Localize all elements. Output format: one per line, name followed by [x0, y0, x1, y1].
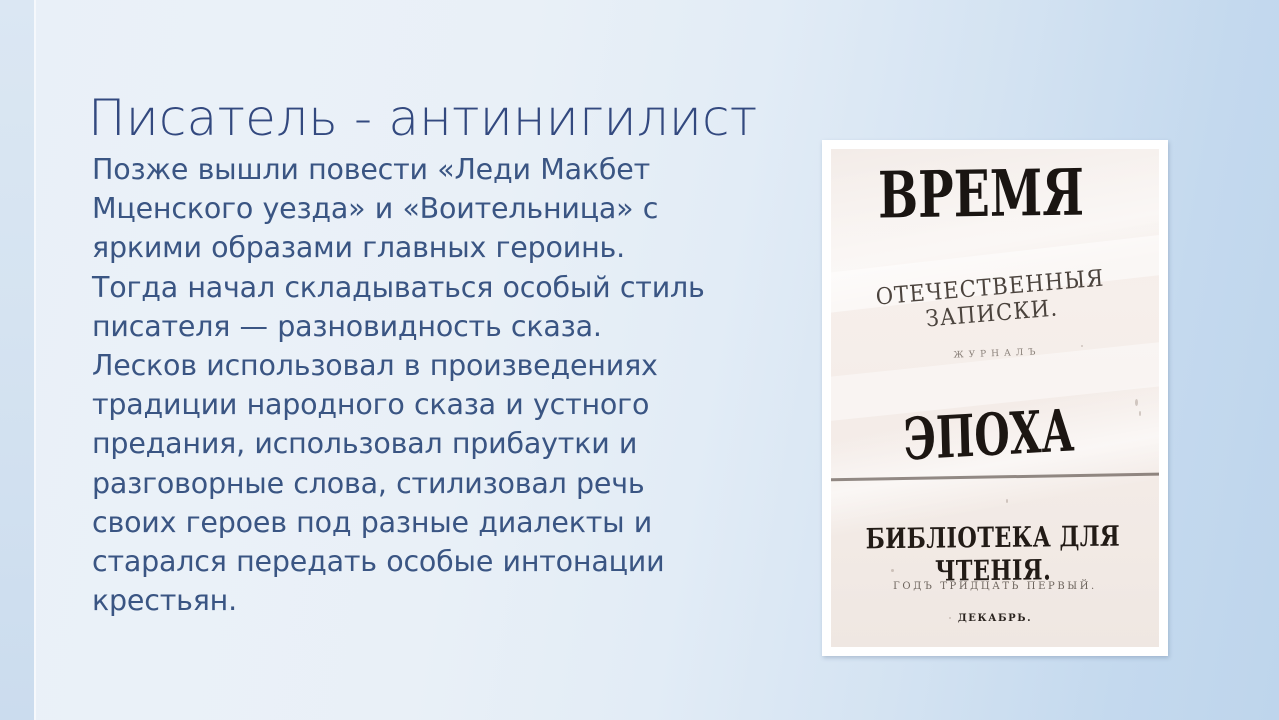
- slide-left-accent-edge: [34, 0, 36, 720]
- paper-speck: [1139, 411, 1141, 416]
- journal-title-epoha: ЭПОХА: [873, 395, 1104, 476]
- journal-covers-image-content: ВРЕМЯ ОТЕЧЕСТВЕННЫЯ ЗАПИСКИ. ЖУРНАЛЪ ЭПО…: [831, 149, 1159, 647]
- paper-speck: [1081, 345, 1083, 347]
- paper-speck: [891, 569, 894, 572]
- journal-title-vremya: ВРЕМЯ: [859, 155, 1102, 233]
- page-title: Писатель - антинигилист: [88, 90, 908, 148]
- journal-subtitle-month: ДЕКАБРЬ.: [831, 613, 1159, 624]
- journal-subtitle-year: ГОДЪ ТРИДЦАТЬ ПЕРВЫЙ.: [831, 581, 1159, 592]
- slide-body-paragraph: Позже вышли повести «Леди Макбет Мценско…: [92, 150, 706, 620]
- paper-speck: [949, 617, 951, 619]
- journal-covers-image: ВРЕМЯ ОТЕЧЕСТВЕННЫЯ ЗАПИСКИ. ЖУРНАЛЪ ЭПО…: [822, 140, 1168, 656]
- journal-subtitle-zhurnal: ЖУРНАЛЪ: [833, 343, 1159, 366]
- journal-title-biblioteka-dlya-chteniya: БИБЛІОТЕКА ДЛЯ ЧТЕНІЯ.: [862, 520, 1125, 589]
- journal-title-otechestvennye-zapiski: ОТЕЧЕСТВЕННЫЯ ЗАПИСКИ.: [839, 262, 1144, 339]
- slide-left-accent-band: [0, 0, 34, 720]
- presentation-slide: Писатель - антинигилист Позже вышли пове…: [0, 0, 1279, 720]
- paper-speck: [1135, 399, 1138, 406]
- paper-speck: [1006, 499, 1008, 503]
